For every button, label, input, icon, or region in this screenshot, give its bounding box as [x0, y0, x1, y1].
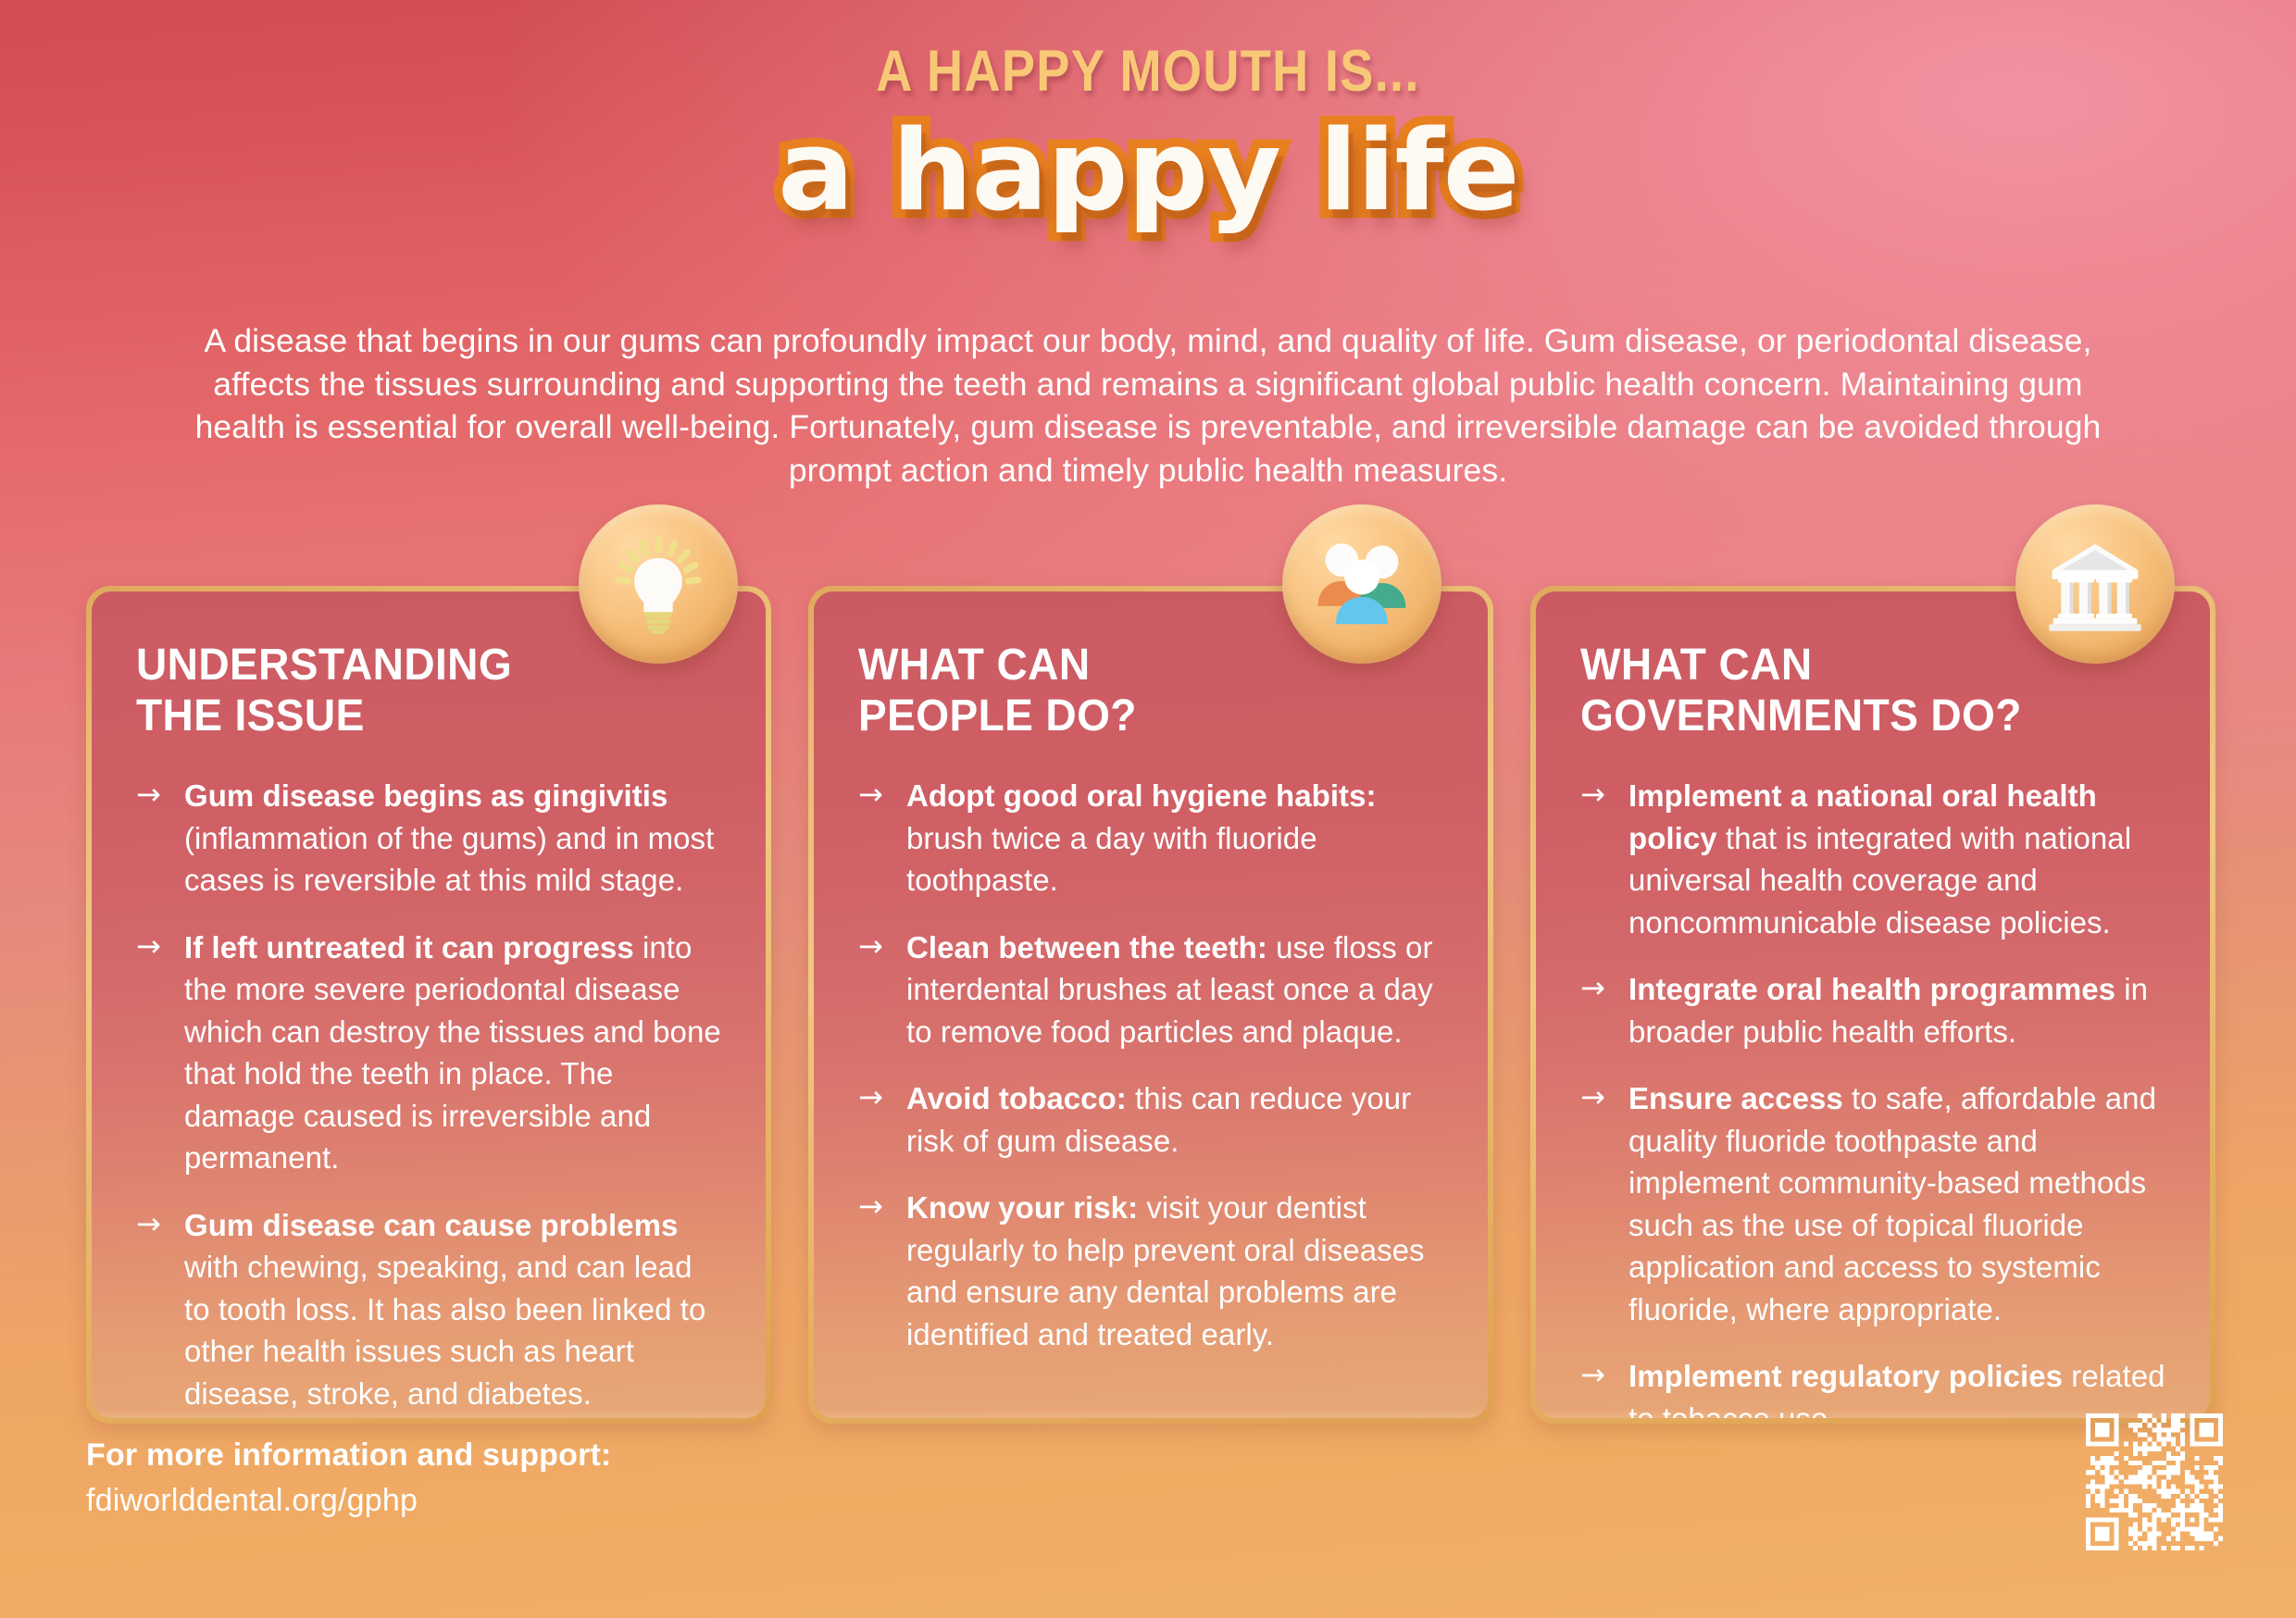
- footer-label: For more information and support:: [86, 1433, 612, 1477]
- arrow-icon: →: [1580, 1077, 1605, 1119]
- arrow-icon: →: [136, 1203, 161, 1246]
- poster-header: A HAPPY MOUTH IS... a happy life: [0, 0, 2296, 247]
- list-item: → Integrate oral health programmes in br…: [1580, 968, 2165, 1052]
- header-title-wrap: a happy life: [0, 108, 2296, 247]
- card-understanding-the-issue: UNDERSTANDING THE ISSUE → Gum disease be…: [86, 586, 771, 1424]
- arrow-icon: →: [136, 774, 161, 816]
- arrow-icon: →: [1580, 774, 1605, 816]
- list-item: → Ensure access to safe, affordable and …: [1580, 1077, 2165, 1330]
- bullet-lead: Adopt good oral hygiene habits:: [906, 778, 1377, 813]
- list-item: → Know your risk: visit your dentist reg…: [858, 1187, 1443, 1355]
- bullet-rest: into the more severe periodontal disease…: [184, 930, 721, 1176]
- header-kicker: A HAPPY MOUTH IS...: [161, 43, 2136, 101]
- bullet-lead: Gum disease begins as gingivitis: [184, 778, 668, 813]
- footer: For more information and support: fdiwor…: [86, 1433, 612, 1524]
- card-what-can-people-do: WHAT CAN PEOPLE DO? → Adopt good oral hy…: [808, 586, 1493, 1424]
- arrow-icon: →: [1580, 967, 1605, 1010]
- bullet-lead: Implement regulatory policies: [1628, 1359, 2063, 1393]
- list-item: → Implement a national oral health polic…: [1580, 775, 2165, 943]
- bullet-rest: brush twice a day with fluoride toothpas…: [906, 821, 1317, 898]
- footer-url[interactable]: fdiworlddental.org/gphp: [86, 1477, 612, 1524]
- page-title: a happy life: [778, 108, 1519, 236]
- arrow-icon: →: [858, 774, 883, 816]
- bullet-list: → Implement a national oral health polic…: [1580, 775, 2165, 1418]
- cards-row: UNDERSTANDING THE ISSUE → Gum disease be…: [86, 586, 2215, 1424]
- bullet-rest: with chewing, speaking, and can lead to …: [184, 1250, 705, 1411]
- card-what-can-governments-do: WHAT CAN GOVERNMENTS DO? → Implement a n…: [1530, 586, 2215, 1424]
- arrow-icon: →: [1580, 1354, 1605, 1397]
- arrow-icon: →: [858, 1077, 883, 1119]
- list-item: → Gum disease begins as gingivitis (infl…: [136, 775, 721, 902]
- bullet-list: → Adopt good oral hygiene habits: brush …: [858, 775, 1443, 1355]
- bullet-lead: Ensure access: [1628, 1081, 1843, 1115]
- card-inner: WHAT CAN GOVERNMENTS DO? → Implement a n…: [1536, 591, 2210, 1418]
- bullet-lead: Integrate oral health programmes: [1628, 972, 2115, 1006]
- bullet-lead: If left untreated it can progress: [184, 930, 634, 965]
- bullet-list: → Gum disease begins as gingivitis (infl…: [136, 775, 721, 1414]
- arrow-icon: →: [858, 1186, 883, 1228]
- bullet-rest: (inflammation of the gums) and in most c…: [184, 821, 714, 898]
- arrow-icon: →: [858, 926, 883, 968]
- people-icon: [1282, 504, 1441, 664]
- bullet-rest: to safe, affordable and quality fluoride…: [1628, 1081, 2156, 1326]
- list-item: → Clean between the teeth: use floss or …: [858, 927, 1443, 1053]
- bullet-lead: Know your risk:: [906, 1190, 1138, 1225]
- government-building-icon: [2015, 504, 2175, 664]
- qr-code-icon[interactable]: [2086, 1413, 2223, 1550]
- lightbulb-icon: [579, 504, 738, 664]
- bullet-lead: Avoid tobacco:: [906, 1081, 1127, 1115]
- bullet-lead: Clean between the teeth:: [906, 930, 1267, 965]
- intro-paragraph: A disease that begins in our gums can pr…: [167, 319, 2129, 492]
- arrow-icon: →: [136, 926, 161, 968]
- card-inner: UNDERSTANDING THE ISSUE → Gum disease be…: [92, 591, 766, 1418]
- card-inner: WHAT CAN PEOPLE DO? → Adopt good oral hy…: [814, 591, 1488, 1418]
- list-item: → Gum disease can cause problems with ch…: [136, 1204, 721, 1415]
- list-item: → Avoid tobacco: this can reduce your ri…: [858, 1077, 1443, 1162]
- list-item: → If left untreated it can progress into…: [136, 927, 721, 1179]
- bullet-lead: Gum disease can cause problems: [184, 1208, 678, 1242]
- card-title: WHAT CAN GOVERNMENTS DO?: [1580, 640, 2142, 741]
- list-item: → Adopt good oral hygiene habits: brush …: [858, 775, 1443, 902]
- card-title: UNDERSTANDING THE ISSUE: [136, 640, 698, 741]
- list-item: → Implement regulatory policies related …: [1580, 1355, 2165, 1418]
